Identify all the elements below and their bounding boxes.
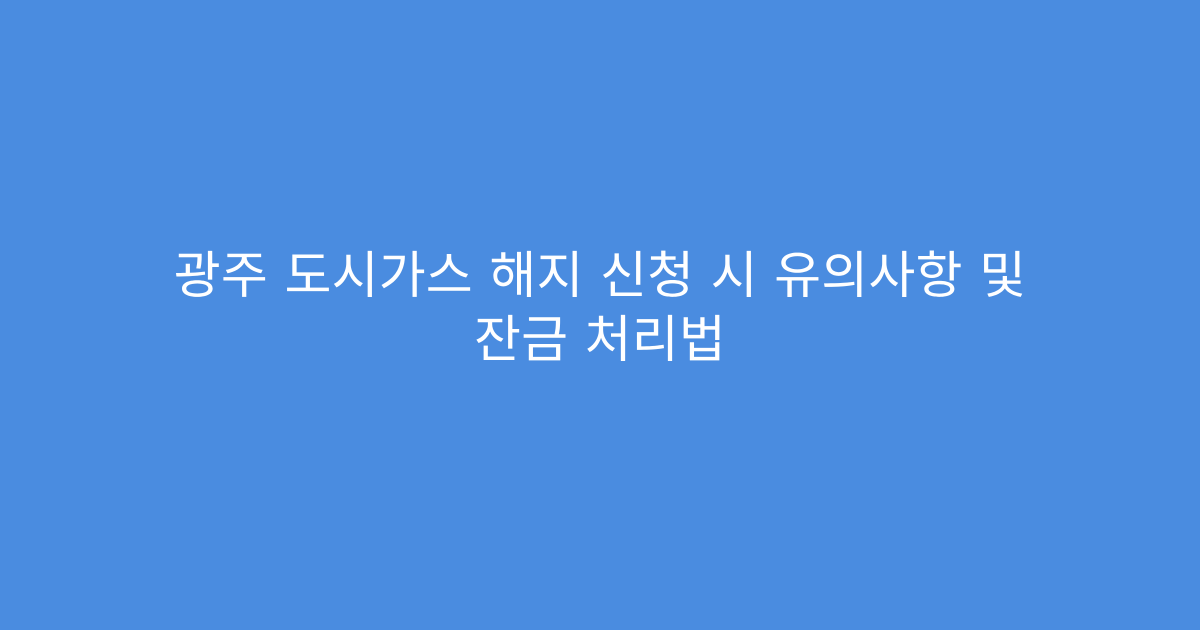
og-card: 광주 도시가스 해지 신청 시 유의사항 및 잔금 처리법 (0, 0, 1200, 630)
page-title: 광주 도시가스 해지 신청 시 유의사항 및 잔금 처리법 (120, 245, 1080, 373)
title-block: 광주 도시가스 해지 신청 시 유의사항 및 잔금 처리법 (100, 245, 1100, 373)
